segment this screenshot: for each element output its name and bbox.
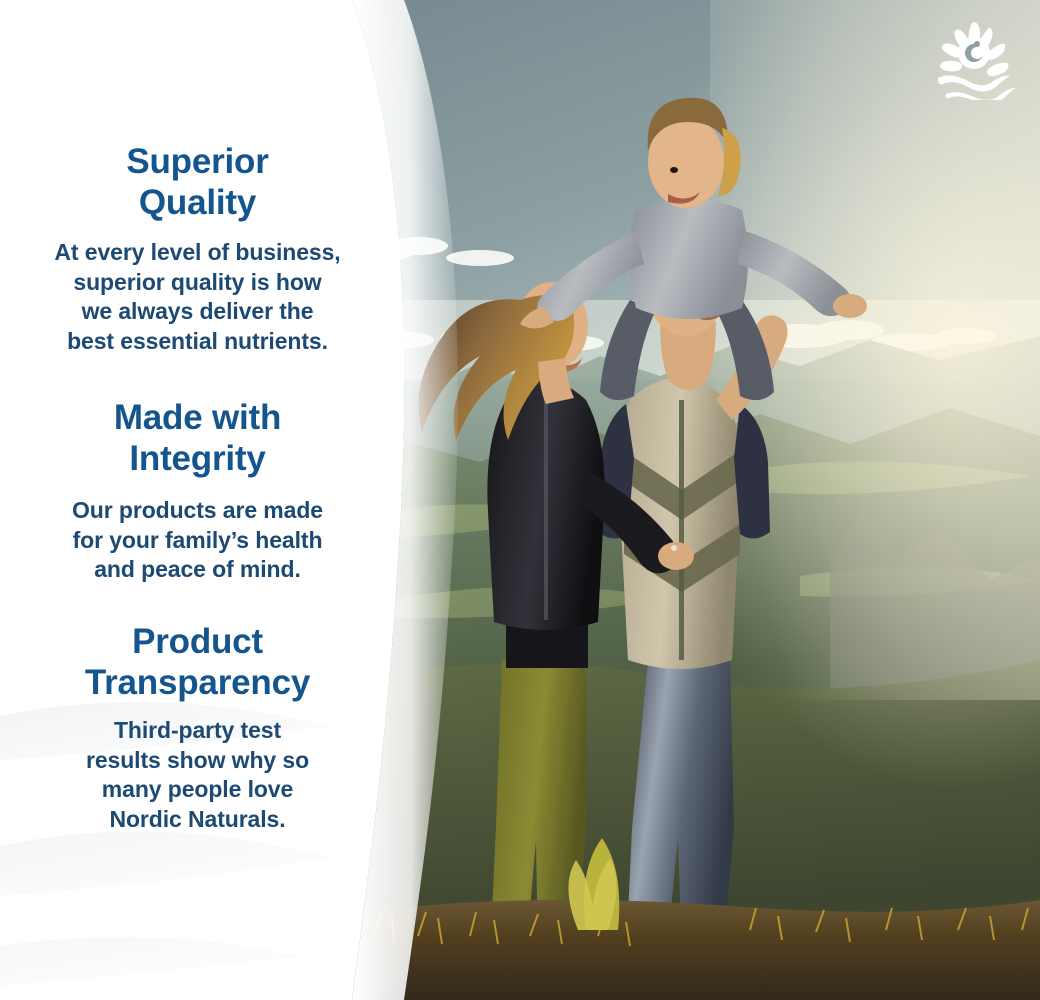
family-on-mountain-ridge-photo — [330, 0, 1040, 1000]
body-product-transparency: Third-party test results show why so man… — [20, 716, 375, 835]
marketing-brand-values-graphic: Superior Quality At every level of busin… — [0, 0, 1040, 1000]
dirt-ridge — [330, 900, 1040, 1000]
vest-zipper — [679, 400, 684, 660]
heading-product-transparency: Product Transparency — [20, 622, 375, 704]
child-hand-right — [833, 294, 867, 318]
jacket-zipper — [544, 400, 548, 620]
heading-superior-quality: Superior Quality — [20, 142, 375, 224]
wedding-ring — [671, 545, 677, 551]
wave-strokes — [938, 75, 1016, 100]
child-hoodie — [629, 198, 748, 319]
heading-made-with-integrity: Made with Integrity — [20, 398, 375, 480]
photo-illustration — [330, 0, 1040, 1000]
body-made-with-integrity: Our products are made for your family’s … — [20, 496, 375, 585]
value-block-superior-quality: Superior Quality At every level of busin… — [20, 142, 375, 357]
value-propositions-column: Superior Quality At every level of busin… — [20, 0, 375, 1000]
child-eye — [670, 167, 678, 173]
value-block-product-transparency: Product Transparency Third-party test re… — [20, 622, 375, 835]
value-block-made-with-integrity: Made with Integrity Our products are mad… — [20, 398, 375, 585]
logo-mark — [934, 20, 1022, 100]
sun-icon — [940, 22, 1008, 76]
nordic-naturals-sun-waves-logo — [934, 20, 1022, 100]
body-superior-quality: At every level of business, superior qua… — [20, 238, 375, 357]
